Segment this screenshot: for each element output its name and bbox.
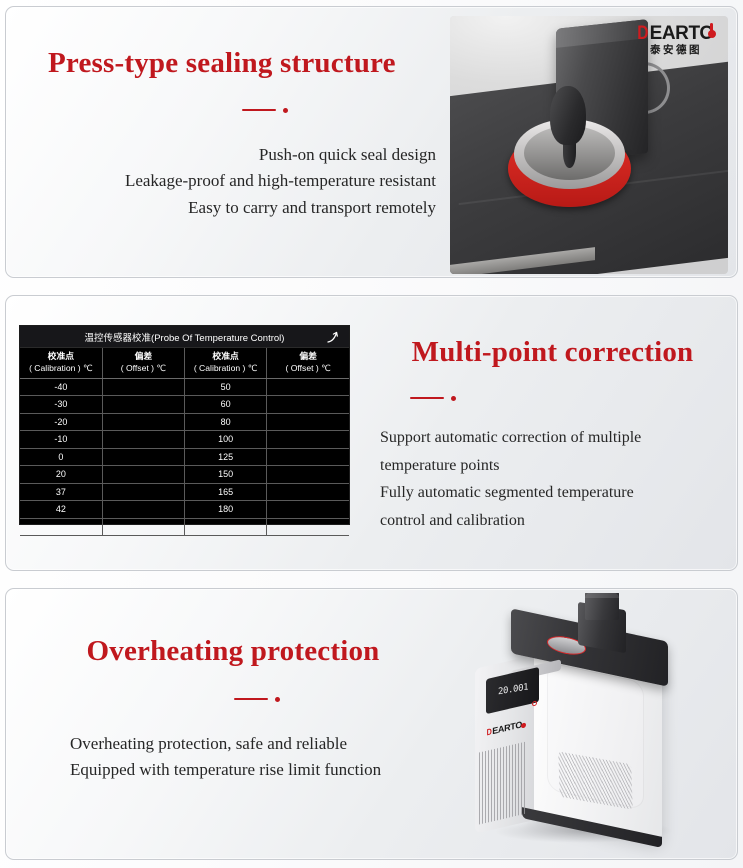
- flame-drop-icon: [708, 23, 716, 38]
- col-header-en: ( Calibration ) ℃: [20, 363, 102, 375]
- divider-dot-icon: [451, 396, 456, 401]
- table-cell: [267, 448, 349, 466]
- table-cell: [102, 378, 184, 396]
- table-row: 37165: [20, 483, 349, 501]
- table-cell: 0: [20, 448, 102, 466]
- panel-3-body: Overheating protection, safe and reliabl…: [70, 731, 466, 784]
- col-header-cn: 校准点: [20, 351, 102, 363]
- col-header-en: ( Offset ) ℃: [267, 363, 349, 375]
- table-cell: 180: [185, 501, 267, 519]
- table-cell: 37: [20, 483, 102, 501]
- divider-bar-icon: [242, 109, 276, 111]
- table-row: -4050: [20, 378, 349, 396]
- flame-drop-icon: [521, 723, 526, 729]
- table-row: [20, 518, 349, 536]
- table-row: 42180: [20, 501, 349, 519]
- dry-block-calibrator-photo: 20.001 DEARTO: [455, 593, 735, 859]
- table-cell: [102, 448, 184, 466]
- table-cell: -30: [20, 396, 102, 414]
- table-cell: 150: [185, 466, 267, 484]
- panel-3-headline: Overheating protection: [86, 637, 379, 666]
- table-cell: [102, 518, 184, 536]
- panel-1-line-3: Easy to carry and transport remotely: [125, 195, 436, 221]
- table-cell: [267, 518, 349, 536]
- table-cell: [102, 483, 184, 501]
- table-cell: -10: [20, 431, 102, 449]
- device-display-value: 20.001: [497, 683, 527, 698]
- table-cell: [267, 483, 349, 501]
- curved-arrow-icon[interactable]: [325, 329, 341, 345]
- panel-3-text-block: Overheating protection Overheating prote…: [6, 589, 466, 859]
- panel-2-headline: Multi-point correction: [412, 338, 694, 367]
- panel-3-line-1: Overheating protection, safe and reliabl…: [70, 731, 466, 757]
- col-header-en: ( Calibration ) ℃: [185, 363, 266, 375]
- divider-bar-icon: [410, 397, 444, 399]
- table-cell: 165: [185, 483, 267, 501]
- table-cell: 60: [185, 396, 267, 414]
- table-row: -3060: [20, 396, 349, 414]
- calibration-table-title: 温控传感器校准(Probe Of Temperature Control): [85, 330, 285, 344]
- calibration-table-header-row: 校准点 ( Calibration ) ℃ 偏差 ( Offset ) ℃ 校准…: [20, 348, 349, 378]
- table-cell: [267, 396, 349, 414]
- calibrator-illustration: 20.001 DEARTO: [455, 593, 735, 859]
- col-header-cn: 校准点: [185, 351, 266, 363]
- table-cell: 20: [20, 466, 102, 484]
- product-feature-page: Press-type sealing structure Push-on qui…: [0, 0, 743, 868]
- col-header-offset-2: 偏差 ( Offset ) ℃: [267, 348, 349, 378]
- table-cell: [185, 518, 267, 536]
- calibration-table: 校准点 ( Calibration ) ℃ 偏差 ( Offset ) ℃ 校准…: [20, 348, 349, 536]
- divider-bar-icon: [234, 698, 268, 700]
- panel-1-headline: Press-type sealing structure: [48, 49, 396, 78]
- panel-1-line-1: Push-on quick seal design: [125, 142, 436, 168]
- table-cell: [267, 501, 349, 519]
- table-row: -2080: [20, 413, 349, 431]
- device-probe-cylinder: [585, 593, 619, 620]
- col-header-cn: 偏差: [267, 351, 349, 363]
- apparatus-press-knob: [550, 86, 586, 145]
- device-side-vent: [479, 742, 527, 825]
- col-header-en: ( Offset ) ℃: [103, 363, 184, 375]
- table-cell: [102, 396, 184, 414]
- dearto-logo: DEARTO 泰安德图: [632, 24, 718, 56]
- dearto-logo-chinese: 泰安德图: [632, 45, 718, 56]
- dearto-logo-rest: EARTO: [650, 23, 714, 44]
- panel-2-line-2: temperature points: [380, 452, 738, 480]
- table-cell: [267, 466, 349, 484]
- panel-multi-point-correction: 温控传感器校准(Probe Of Temperature Control) 校准…: [5, 295, 738, 571]
- calibration-table-body: -4050-3060-2080-101000125201503716542180: [20, 378, 349, 536]
- table-cell: -40: [20, 378, 102, 396]
- table-cell: 42: [20, 501, 102, 519]
- divider-dot-icon: [283, 108, 288, 113]
- table-cell: [102, 501, 184, 519]
- col-header-cn: 偏差: [103, 351, 184, 363]
- table-row: 0125: [20, 448, 349, 466]
- device-logo-lead-letter: D: [486, 727, 491, 738]
- panel-press-type-sealing-structure: Press-type sealing structure Push-on qui…: [5, 6, 738, 278]
- panel-1-line-2: Leakage-proof and high-temperature resis…: [125, 168, 436, 194]
- panel-2-line-4: control and calibration: [380, 507, 738, 535]
- table-cell: 50: [185, 378, 267, 396]
- panel-2-divider: [410, 392, 738, 404]
- press-seal-apparatus-photo: DEARTO 泰安德图: [450, 16, 728, 274]
- table-cell: 125: [185, 448, 267, 466]
- panel-2-line-3: Fully automatic segmented temperature: [380, 479, 738, 507]
- col-header-offset-1: 偏差 ( Offset ) ℃: [102, 348, 184, 378]
- table-cell: [102, 413, 184, 431]
- table-cell: [102, 466, 184, 484]
- table-cell: 100: [185, 431, 267, 449]
- table-cell: [267, 378, 349, 396]
- panel-2-body: Support automatic correction of multiple…: [380, 424, 738, 534]
- panel-1-text-block: Press-type sealing structure Push-on qui…: [6, 7, 454, 277]
- panel-1-divider: [242, 104, 288, 116]
- table-row: 20150: [20, 466, 349, 484]
- divider-dot-icon: [275, 697, 280, 702]
- col-header-calibration-1: 校准点 ( Calibration ) ℃: [20, 348, 102, 378]
- dearto-logo-lead-letter: D: [637, 24, 648, 43]
- calibration-table-title-bar: 温控传感器校准(Probe Of Temperature Control): [20, 326, 349, 348]
- panel-overheating-protection: Overheating protection Overheating prote…: [5, 588, 738, 860]
- dearto-logo-wordmark: DEARTO: [636, 24, 714, 43]
- calibration-table-screenshot: 温控传感器校准(Probe Of Temperature Control) 校准…: [19, 325, 350, 525]
- panel-3-divider: [234, 693, 466, 705]
- panel-3-line-2: Equipped with temperature rise limit fun…: [70, 757, 466, 783]
- panel-2-text-block: Multi-point correction Support automatic…: [372, 296, 738, 570]
- table-cell: [267, 431, 349, 449]
- table-cell: -20: [20, 413, 102, 431]
- panel-1-body: Push-on quick seal design Leakage-proof …: [125, 142, 436, 221]
- table-cell: [20, 518, 102, 536]
- table-cell: 80: [185, 413, 267, 431]
- table-row: -10100: [20, 431, 349, 449]
- col-header-calibration-2: 校准点 ( Calibration ) ℃: [185, 348, 267, 378]
- table-cell: [267, 413, 349, 431]
- calibration-table-head: 校准点 ( Calibration ) ℃ 偏差 ( Offset ) ℃ 校准…: [20, 348, 349, 378]
- table-cell: [102, 431, 184, 449]
- panel-2-line-1: Support automatic correction of multiple: [380, 424, 738, 452]
